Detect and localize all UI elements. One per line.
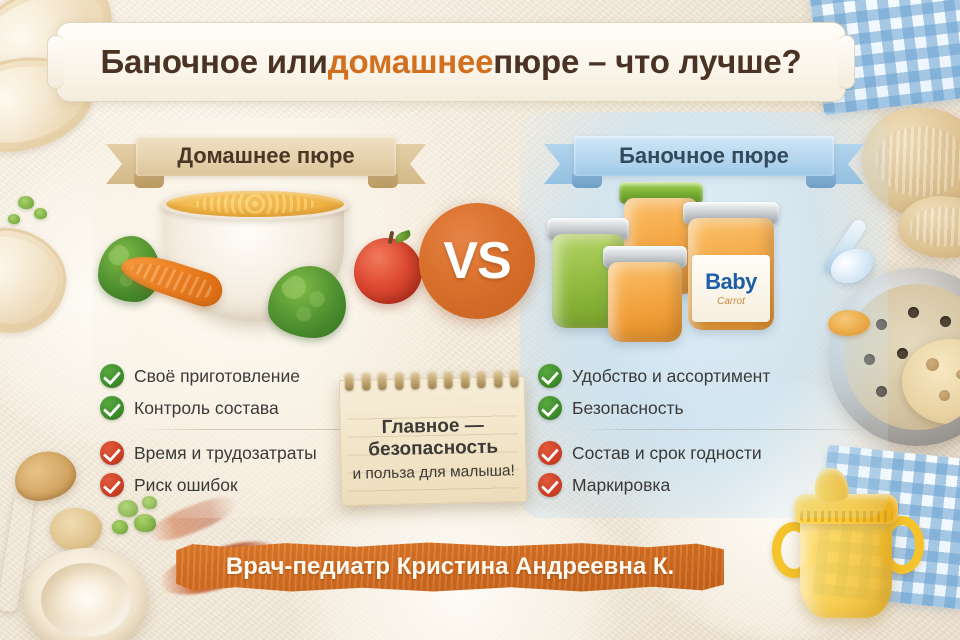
spiral-ring xyxy=(493,369,502,388)
red-check-icon xyxy=(538,441,562,465)
title-accent-word: домашнее xyxy=(328,43,494,81)
green-check-icon xyxy=(100,396,124,420)
cream-swirl xyxy=(41,563,130,638)
spiral-ring xyxy=(477,369,486,388)
jar-glass xyxy=(608,262,682,342)
list-item[interactable]: Удобство и ассортимент xyxy=(538,360,874,392)
bowl-rim xyxy=(160,190,350,220)
list-item-label: Состав и срок годности xyxy=(572,443,762,464)
spiral-ring xyxy=(460,369,469,388)
jar-baby-labelled: Baby Carrot xyxy=(688,218,774,330)
list-item-label: Контроль состава xyxy=(134,398,279,419)
list-item-label: Риск ошибок xyxy=(134,475,238,496)
herb-leaf xyxy=(18,196,34,209)
spiral-ring xyxy=(411,370,420,389)
ribbon-label-jarred: Баночное пюре xyxy=(574,136,834,176)
apple-leaf xyxy=(394,230,412,244)
list-item-label: Своё приготовление xyxy=(134,366,300,387)
puree-surface xyxy=(166,191,344,217)
jar-label: Baby Carrot xyxy=(692,255,770,322)
list-jarred: Удобство и ассортимент Безопасность Сост… xyxy=(538,360,874,501)
herb-leaf xyxy=(112,520,128,534)
green-check-icon xyxy=(538,364,562,388)
list-item[interactable]: Безопасность xyxy=(538,392,874,424)
panel-jarred: Баночное пюре Baby Carrot xyxy=(530,118,878,518)
vs-label: VS xyxy=(443,231,510,291)
jar-label-flavour: Carrot xyxy=(717,296,745,307)
herb-leaf xyxy=(8,214,20,224)
sippy-cup-body xyxy=(800,514,892,618)
jar-orange-small xyxy=(608,262,682,342)
notepad-spiral-binding xyxy=(345,368,519,392)
title-part-2: пюре – что лучше? xyxy=(493,43,801,81)
list-divider xyxy=(574,429,868,430)
title-plaque: Баночное или домашнее пюре – что лучше? xyxy=(56,22,846,102)
apple-prop xyxy=(354,238,422,304)
jar-label-brand: Baby xyxy=(705,269,757,295)
notepad-message: Главное — безопасность и польза для малы… xyxy=(349,400,517,497)
homemade-puree-photo xyxy=(92,180,440,350)
spiral-ring xyxy=(509,368,518,387)
red-check-icon xyxy=(538,473,562,497)
baby-food-jars-photo: Baby Carrot xyxy=(530,176,878,354)
spiral-ring xyxy=(345,372,354,391)
herb-leaf xyxy=(34,208,47,219)
spiral-ring xyxy=(361,371,370,390)
notepad-line-3: и польза для малыша! xyxy=(352,463,515,484)
ribbon-homemade: Домашнее пюре xyxy=(106,136,426,182)
pancake-prop xyxy=(902,339,960,424)
spiral-ring xyxy=(378,371,387,390)
list-item-label: Время и трудозатраты xyxy=(134,443,317,464)
ribbon-label-homemade: Домашнее пюре xyxy=(136,136,396,176)
page-title: Баночное или домашнее пюре – что лучше? xyxy=(57,23,845,101)
notepad-line-1: Главное — xyxy=(381,415,484,440)
red-check-icon xyxy=(100,441,124,465)
list-item[interactable]: Маркировка xyxy=(538,469,874,501)
spiral-ring xyxy=(427,370,436,389)
puree-blob-prop xyxy=(828,310,870,336)
notepad-card: Главное — безопасность и польза для малы… xyxy=(339,376,528,506)
list-item[interactable]: Состав и срок годности xyxy=(538,437,874,469)
red-check-icon xyxy=(100,473,124,497)
title-part-1: Баночное или xyxy=(101,43,328,81)
spiral-ring xyxy=(444,370,453,389)
infographic-poster: Баночное или домашнее пюре – что лучше? … xyxy=(0,0,960,640)
spiral-ring xyxy=(394,371,403,390)
puree-swirl xyxy=(194,194,315,214)
notepad-line-2: безопасность xyxy=(368,437,498,462)
vs-badge: VS xyxy=(419,203,535,319)
footer-label: Врач-педиатр Кристина Андреевна К. xyxy=(176,541,724,593)
apple-stem xyxy=(388,231,395,245)
green-check-icon xyxy=(538,396,562,420)
list-item-label: Маркировка xyxy=(572,475,670,496)
list-item-label: Безопасность xyxy=(572,398,684,419)
green-check-icon xyxy=(100,364,124,388)
list-item-label: Удобство и ассортимент xyxy=(572,366,770,387)
